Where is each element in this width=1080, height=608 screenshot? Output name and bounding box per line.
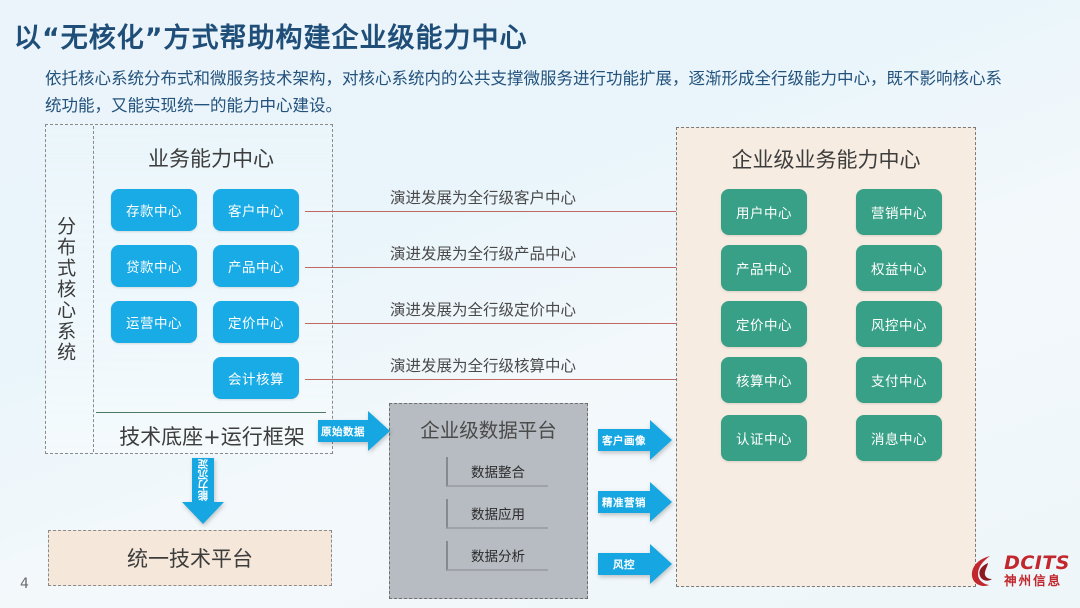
arrow-head-customer-profile bbox=[650, 420, 672, 460]
evolution-line-customer bbox=[305, 211, 713, 212]
core-system-vertical-label: 分布式核心系统 bbox=[47, 124, 83, 454]
data-platform-item-analysis[interactable]: 数据分析 bbox=[446, 541, 548, 571]
chip-user-center[interactable]: 用户中心 bbox=[721, 189, 807, 235]
arrow-label-risk-control: 风控 bbox=[598, 553, 650, 575]
data-platform-item-application[interactable]: 数据应用 bbox=[446, 499, 548, 529]
data-platform-title: 企业级数据平台 bbox=[389, 414, 588, 443]
business-capability-box bbox=[93, 126, 331, 452]
page-number: 4 bbox=[20, 576, 29, 592]
chip-deposit-center[interactable]: 存款中心 bbox=[111, 189, 197, 231]
tech-base-label: 技术底座+运行框架 bbox=[96, 418, 328, 454]
chip-customer-center[interactable]: 客户中心 bbox=[213, 189, 299, 231]
page-subtitle: 依托核心系统分布式和微服务技术架构，对核心系统内的公共支撑微服务进行功能扩展，逐… bbox=[45, 66, 1005, 119]
evolution-label-customer: 演进发展为全行级客户中心 bbox=[390, 186, 576, 208]
unified-tech-platform[interactable]: 统一技术平台 bbox=[48, 530, 332, 586]
brand-name-en: DCITS bbox=[1004, 554, 1070, 574]
evolution-line-accounting bbox=[305, 379, 713, 380]
brand-name-cn: 神州信息 bbox=[1004, 574, 1070, 587]
arrow-head-raw-data bbox=[368, 411, 390, 451]
chip-ent-accounting-center[interactable]: 核算中心 bbox=[721, 357, 807, 403]
evolution-label-accounting: 演进发展为全行级核算中心 bbox=[390, 354, 576, 376]
chip-product-center[interactable]: 产品中心 bbox=[213, 245, 299, 287]
chip-message-center[interactable]: 消息中心 bbox=[856, 415, 942, 461]
chip-auth-center[interactable]: 认证中心 bbox=[721, 415, 807, 461]
enterprise-panel-title: 企业级业务能力中心 bbox=[676, 144, 976, 174]
arrow-head-capability-precipitation bbox=[182, 502, 224, 524]
brand-logo: DCITS 神州信息 bbox=[968, 554, 1070, 588]
business-center-title: 业务能力中心 bbox=[100, 143, 322, 173]
arrow-head-precision-marketing bbox=[650, 482, 672, 522]
data-platform-item-integration[interactable]: 数据整合 bbox=[446, 457, 548, 487]
chip-ent-product-center[interactable]: 产品中心 bbox=[721, 245, 807, 291]
business-center-divider bbox=[96, 412, 326, 413]
arrow-label-raw-data: 原始数据 bbox=[318, 420, 368, 442]
evolution-line-product bbox=[305, 267, 713, 268]
dcits-logo-icon bbox=[968, 554, 998, 588]
chip-marketing-center[interactable]: 营销中心 bbox=[856, 189, 942, 235]
chip-payment-center[interactable]: 支付中心 bbox=[856, 357, 942, 403]
arrow-label-capability-precipitation: 能力沉淀 bbox=[192, 458, 214, 502]
chip-rights-center[interactable]: 权益中心 bbox=[856, 245, 942, 291]
evolution-label-product: 演进发展为全行级产品中心 bbox=[390, 242, 576, 264]
chip-operation-center[interactable]: 运营中心 bbox=[111, 301, 197, 343]
page-title: 以“无核化”方式帮助构建企业级能力中心 bbox=[14, 16, 528, 55]
evolution-line-pricing bbox=[305, 323, 713, 324]
chip-pricing-center[interactable]: 定价中心 bbox=[213, 301, 299, 343]
evolution-label-pricing: 演进发展为全行级定价中心 bbox=[390, 298, 576, 320]
arrow-label-customer-profile: 客户画像 bbox=[598, 429, 650, 451]
arrow-head-risk-control bbox=[650, 544, 672, 584]
chip-loan-center[interactable]: 贷款中心 bbox=[111, 245, 197, 287]
chip-accounting[interactable]: 会计核算 bbox=[213, 357, 299, 399]
arrow-label-precision-marketing: 精准营销 bbox=[598, 491, 650, 513]
chip-risk-center[interactable]: 风控中心 bbox=[856, 301, 942, 347]
chip-ent-pricing-center[interactable]: 定价中心 bbox=[721, 301, 807, 347]
